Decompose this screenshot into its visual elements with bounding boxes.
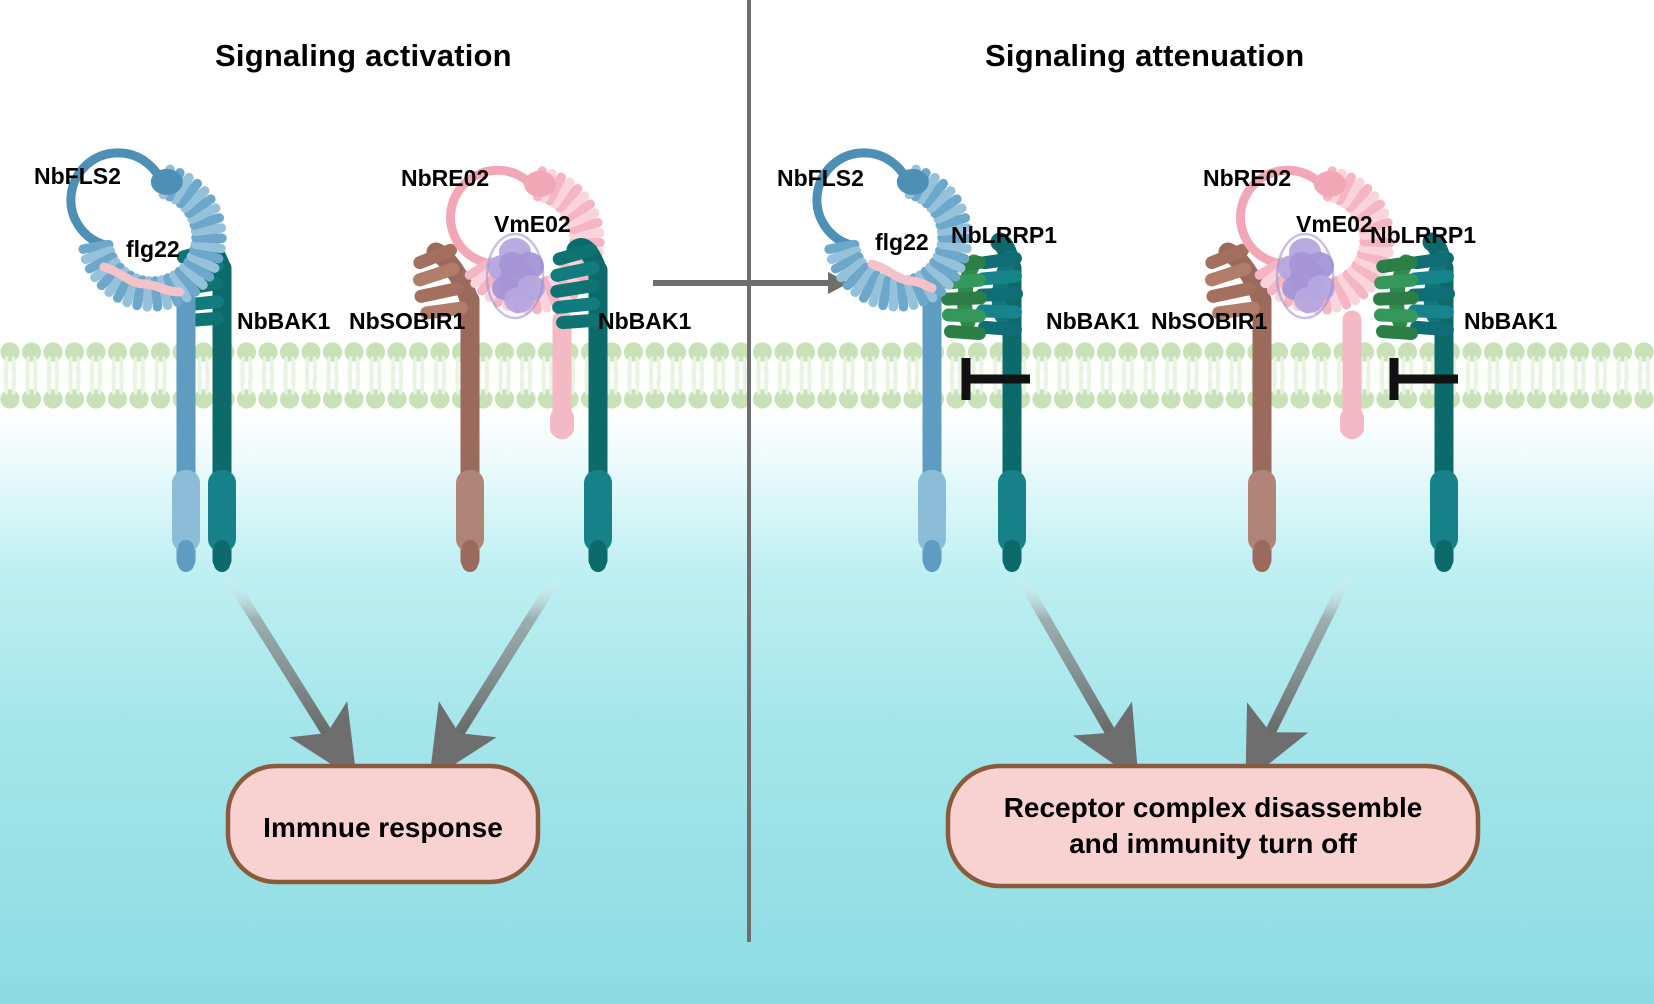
nbre02-left-stem (550, 320, 574, 438)
lrr-cap (1314, 171, 1346, 197)
label-nbre02-right: NbRE02 (1203, 165, 1291, 192)
panel-title-left: Signaling activation (215, 38, 512, 74)
figure-canvas: Signaling activation Signaling attenuati… (0, 0, 1654, 1004)
lrr-repeat (574, 233, 600, 236)
label-nbfls2-right: NbFLS2 (777, 165, 864, 192)
lrr-cap (151, 169, 183, 195)
label-vme02-left: VmE02 (494, 211, 571, 238)
lrr-repeat (196, 238, 222, 239)
outcome-text-right: Receptor complex disassemble and immunit… (948, 790, 1478, 863)
label-nbsobir1-left: NbSOBIR1 (349, 308, 465, 335)
outcome-text-right-line2: and immunity turn off (948, 826, 1478, 862)
panel-title-right: Signaling attenuation (985, 38, 1304, 74)
lrr-repeat (883, 280, 889, 305)
vme02-subunit (504, 287, 534, 313)
vme02-subunit (1289, 252, 1315, 276)
lrr-repeat (893, 281, 895, 307)
lrr-repeat (196, 228, 222, 231)
cytoplasm-background (0, 408, 1654, 1004)
lrr-cap (897, 169, 929, 195)
lrr-repeat (901, 281, 903, 307)
nblrrp1-green-half-b (1373, 255, 1419, 340)
label-vme02-right: VmE02 (1296, 211, 1373, 238)
vme02-globule-right (1277, 234, 1335, 318)
lrr-cap (524, 171, 556, 197)
label-nbbak1-left-b: NbBAK1 (598, 308, 691, 335)
nblrrp1-right-b (1373, 251, 1455, 340)
label-nbre02-left: NbRE02 (401, 165, 489, 192)
vme02-subunit (1294, 287, 1324, 313)
label-nbsobir1-right: NbSOBIR1 (1151, 308, 1267, 335)
label-nbfls2-left: NbFLS2 (34, 163, 121, 190)
outcome-text-right-line1: Receptor complex disassemble (948, 790, 1478, 826)
label-nbbak1-right-a: NbBAK1 (1046, 308, 1139, 335)
vme02-globule-left (487, 234, 545, 318)
label-flg22-right: flg22 (875, 229, 929, 256)
label-flg22-left: flg22 (126, 236, 180, 263)
nbre02-right-stem (1340, 320, 1364, 438)
lrr-repeat (195, 244, 221, 248)
label-nblrrp1-right-a: NbLRRP1 (951, 222, 1057, 249)
outcome-text-left: Immnue response (228, 810, 538, 846)
label-nblrrp1-right-b: NbLRRP1 (1370, 222, 1476, 249)
label-nbbak1-left-a: NbBAK1 (237, 308, 330, 335)
label-nbbak1-right-b: NbBAK1 (1464, 308, 1557, 335)
vme02-subunit (499, 252, 525, 276)
